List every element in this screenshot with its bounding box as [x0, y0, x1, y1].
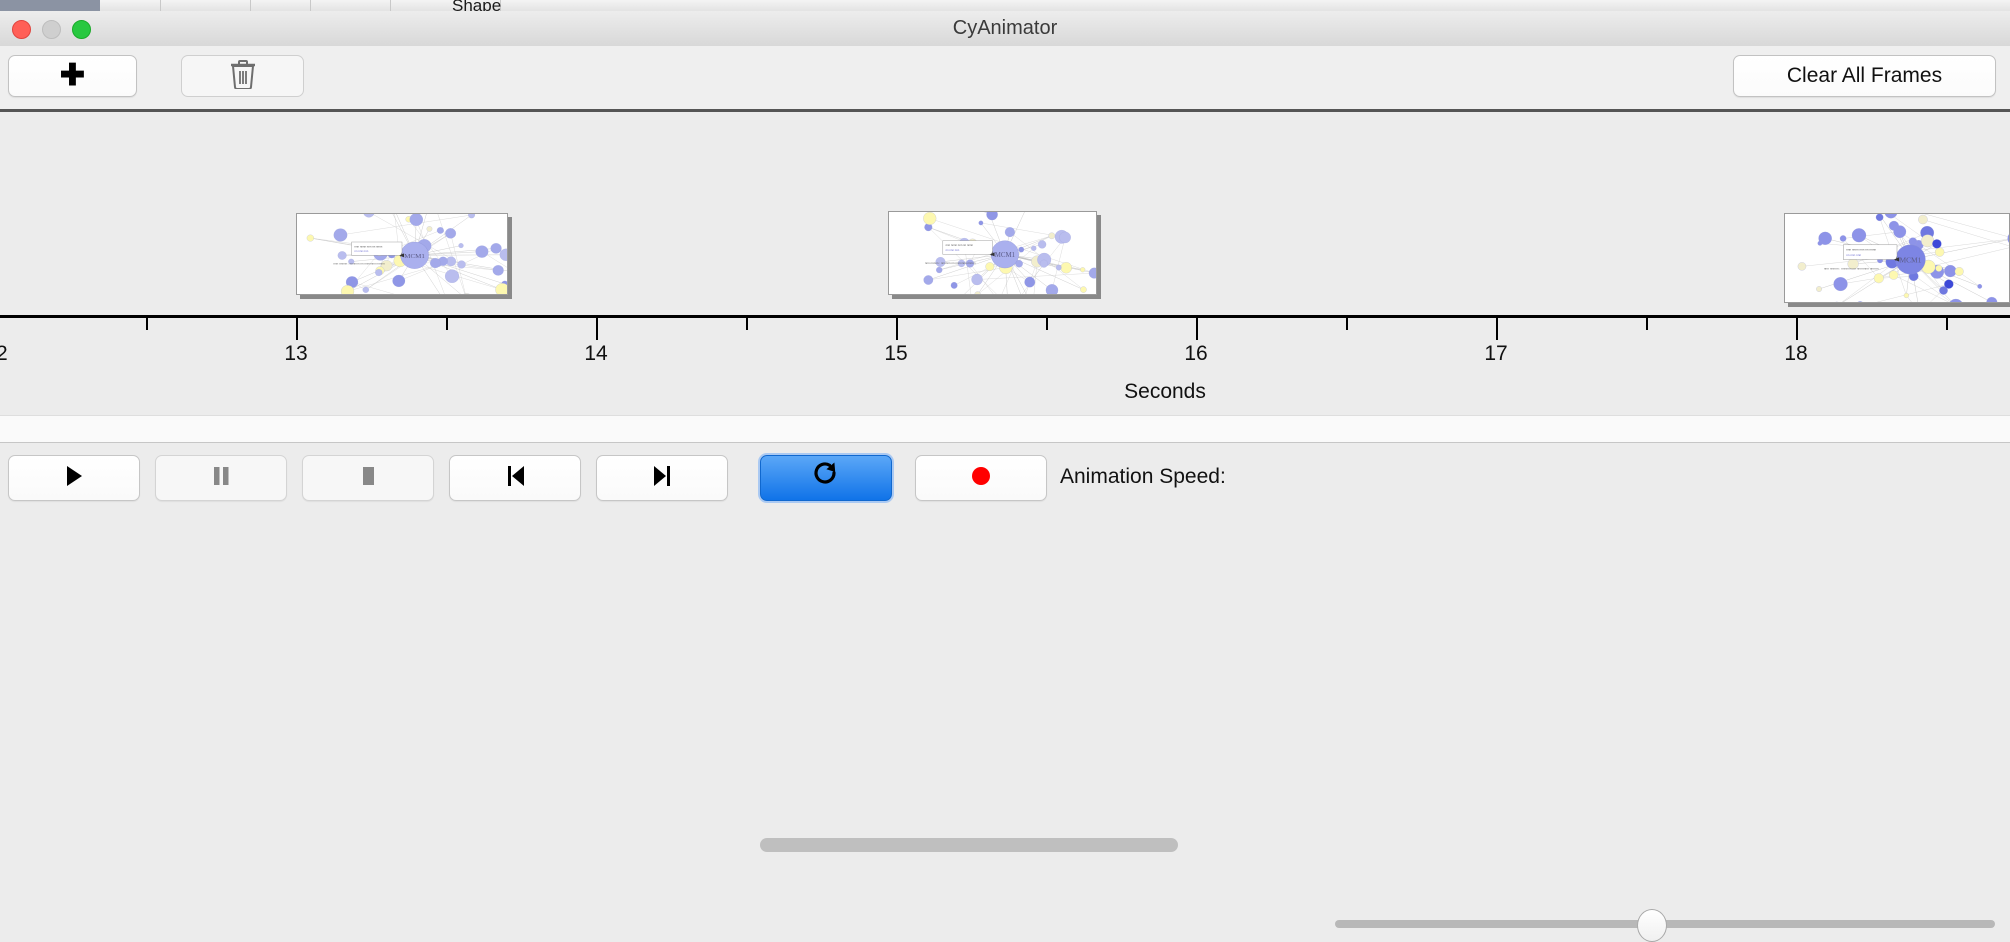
cyanimator-window: Shape CyAnimator ✚ Clear All	[0, 0, 2010, 510]
clear-all-frames-button[interactable]: Clear All Frames	[1733, 55, 1996, 97]
timeline-frame-thumbnail[interactable]: MCM1nnn nnnn nnn nn nnnnnn nnn nnnnnn nn…	[888, 211, 1097, 295]
plus-icon: ✚	[60, 61, 85, 91]
svg-text:nn nnn nnn: nn nnn nnn	[946, 249, 960, 252]
clear-all-frames-label: Clear All Frames	[1787, 64, 1942, 88]
axis-tick-label: 13	[284, 342, 307, 366]
axis-tick-minor	[1946, 318, 1948, 330]
playback-control-bar: Animation Speed:	[0, 442, 2010, 511]
axis-tick-minor	[446, 318, 448, 330]
background-window-strip: Shape	[0, 0, 2010, 11]
delete-frame-button[interactable]	[181, 55, 304, 97]
stop-button	[302, 455, 434, 501]
pause-icon	[209, 462, 233, 495]
loop-button[interactable]	[760, 455, 892, 501]
axis-tick-label: 17	[1484, 342, 1507, 366]
horizontal-scrollbar-thumb[interactable]	[760, 838, 1178, 852]
svg-text:nn nnn nnn: nn nnn nnn	[354, 250, 368, 253]
window-title: CyAnimator	[0, 11, 2010, 46]
horizontal-scrollbar-track[interactable]	[0, 415, 2010, 443]
play-button[interactable]	[8, 455, 140, 501]
timeline-panel[interactable]: 12131415161718 Seconds MCM1nnn nnnn nnn …	[0, 112, 2010, 415]
bg-seg	[250, 0, 311, 11]
svg-text:nnn nnnn nnn nn nnnn: nnn nnnn nnn nn nnnn	[946, 244, 974, 247]
skip-forward-icon	[649, 462, 675, 495]
loop-icon	[812, 461, 840, 496]
timeline-frame-thumbnail[interactable]: MCM1nnn nnnn nnn nn nnnnnn nnn nnnnnn nn…	[296, 213, 508, 295]
toolbar: ✚ Clear All Frames	[0, 46, 2010, 112]
svg-text:nn nnn nnn: nn nnn nnn	[1846, 253, 1861, 257]
axis-tick-major	[296, 318, 298, 340]
svg-text:nnn nnnnn : nnnnnn nn nnnnnnn: nnn nnnnn : nnnnnn nn nnnnnnn nnnnn	[1824, 267, 1879, 271]
axis-tick-major	[896, 318, 898, 340]
axis-tick-major	[1496, 318, 1498, 340]
animation-speed-label: Animation Speed:	[1060, 455, 1226, 499]
skip-forward-button[interactable]	[596, 455, 728, 501]
background-window-sidebar	[0, 0, 100, 11]
svg-text:MCM1: MCM1	[404, 253, 425, 260]
title-bar: CyAnimator	[0, 11, 2010, 47]
axis-tick-minor	[746, 318, 748, 330]
bg-seg	[100, 0, 161, 11]
bg-seg	[160, 0, 251, 11]
axis-tick-label: 15	[884, 342, 907, 366]
bg-seg	[310, 0, 391, 11]
axis-tick-minor	[1046, 318, 1048, 330]
axis-tick-minor	[1346, 318, 1348, 330]
skip-back-button[interactable]	[449, 455, 581, 501]
axis-tick-label: 12	[0, 342, 8, 366]
svg-text:MCM1: MCM1	[995, 252, 1016, 259]
add-frame-button[interactable]: ✚	[8, 55, 137, 97]
timeline-axis	[0, 315, 2010, 318]
record-button[interactable]	[915, 455, 1047, 501]
trash-icon	[230, 59, 256, 94]
svg-text:nnn nnnn nnn nn nnnn: nnn nnnn nnn nn nnnn	[354, 245, 382, 248]
axis-tick-label: 16	[1184, 342, 1207, 366]
axis-title: Seconds	[1124, 380, 1206, 404]
stop-icon	[356, 462, 380, 495]
svg-text:nnn nnnn nnn nn nnnn: nnn nnnn nnn nn nnnn	[1846, 248, 1876, 252]
skip-back-icon	[502, 462, 528, 495]
pause-button	[155, 455, 287, 501]
axis-tick-minor	[146, 318, 148, 330]
svg-text:nnn nnnnn : nnnnnn nn nnnnnnn: nnn nnnnn : nnnnnn nn nnnnnnn nnnnn	[925, 261, 976, 265]
background-window-label: Shape	[452, 0, 501, 11]
record-icon	[968, 462, 994, 495]
network-graph-preview: MCM1nnn nnnn nnn nn nnnnnn nnn nnnnnn nn…	[889, 212, 1096, 294]
svg-text:MCM1: MCM1	[1899, 255, 1921, 264]
axis-tick-label: 14	[584, 342, 607, 366]
axis-tick-major	[1796, 318, 1798, 340]
animation-speed-slider-thumb[interactable]	[1637, 909, 1667, 942]
svg-text:nnn nnnnn : nnnnnn nn nnnnnnn: nnn nnnnn : nnnnnn nn nnnnnnn nnnnn	[333, 262, 385, 266]
timeline-frame-thumbnail[interactable]: MCM1nnn nnnn nnn nn nnnnnn nnn nnnnnn nn…	[1784, 213, 2010, 303]
axis-tick-label: 18	[1784, 342, 1807, 366]
axis-tick-major	[596, 318, 598, 340]
axis-tick-minor	[1646, 318, 1648, 330]
axis-tick-major	[1196, 318, 1198, 340]
network-graph-preview: MCM1nnn nnnn nnn nn nnnnnn nnn nnnnnn nn…	[297, 214, 507, 294]
play-icon	[61, 462, 87, 495]
network-graph-preview: MCM1nnn nnnn nnn nn nnnnnn nnn nnnnnn nn…	[1785, 214, 2009, 302]
